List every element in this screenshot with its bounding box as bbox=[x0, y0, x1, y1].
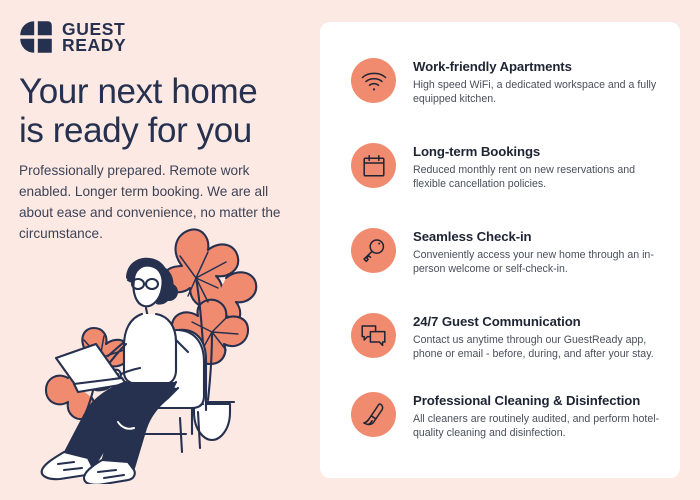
feature-title: 24/7 Guest Communication bbox=[413, 314, 663, 330]
feature-description: Contact us anytime through our GuestRead… bbox=[413, 333, 663, 361]
list-item[interactable]: 24/7 Guest Communication Contact us anyt… bbox=[351, 313, 663, 361]
feature-description: All cleaners are routinely audited, and … bbox=[413, 412, 663, 440]
feature-description: High speed WiFi, a dedicated workspace a… bbox=[413, 78, 663, 106]
feature-text: Work-friendly Apartments High speed WiFi… bbox=[396, 58, 663, 106]
calendar-icon bbox=[351, 143, 396, 188]
brand-wordmark: Guest Ready bbox=[62, 21, 126, 54]
hero-column: Guest Ready Your next home is ready for … bbox=[0, 0, 320, 500]
feature-title: Seamless Check-in bbox=[413, 229, 663, 245]
wifi-icon bbox=[351, 58, 396, 103]
broom-icon bbox=[351, 392, 396, 437]
brand-logo[interactable]: Guest Ready bbox=[19, 20, 126, 54]
feature-title: Long-term Bookings bbox=[413, 144, 663, 160]
feature-text: Long-term Bookings Reduced monthly rent … bbox=[396, 143, 663, 191]
headline-line-1: Your next home bbox=[19, 72, 309, 111]
feature-title: Work-friendly Apartments bbox=[413, 59, 663, 75]
feature-description: Conveniently access your new home throug… bbox=[413, 248, 663, 276]
headline-line-2: is ready for you bbox=[19, 111, 309, 150]
list-item[interactable]: Long-term Bookings Reduced monthly rent … bbox=[351, 143, 663, 191]
features-card: Work-friendly Apartments High speed WiFi… bbox=[320, 22, 680, 478]
brand-word-line2: Ready bbox=[62, 37, 126, 54]
key-icon bbox=[351, 228, 396, 273]
guestready-quadrant-logo-icon bbox=[19, 20, 53, 54]
feature-text: Professional Cleaning & Disinfection All… bbox=[396, 392, 663, 440]
list-item[interactable]: Seamless Check-in Conveniently access yo… bbox=[351, 228, 663, 276]
list-item[interactable]: Work-friendly Apartments High speed WiFi… bbox=[351, 58, 663, 106]
woman-with-laptop-and-plants-illustration bbox=[30, 222, 320, 484]
feature-description: Reduced monthly rent on new reservations… bbox=[413, 163, 663, 191]
feature-text: 24/7 Guest Communication Contact us anyt… bbox=[396, 313, 663, 361]
feature-text: Seamless Check-in Conveniently access yo… bbox=[396, 228, 663, 276]
page-title: Your next home is ready for you bbox=[19, 72, 309, 150]
list-item[interactable]: Professional Cleaning & Disinfection All… bbox=[351, 392, 663, 440]
feature-title: Professional Cleaning & Disinfection bbox=[413, 393, 663, 409]
hero-illustration bbox=[30, 222, 320, 484]
promo-page: Guest Ready Your next home is ready for … bbox=[0, 0, 700, 500]
chat-bubbles-icon bbox=[351, 313, 396, 358]
